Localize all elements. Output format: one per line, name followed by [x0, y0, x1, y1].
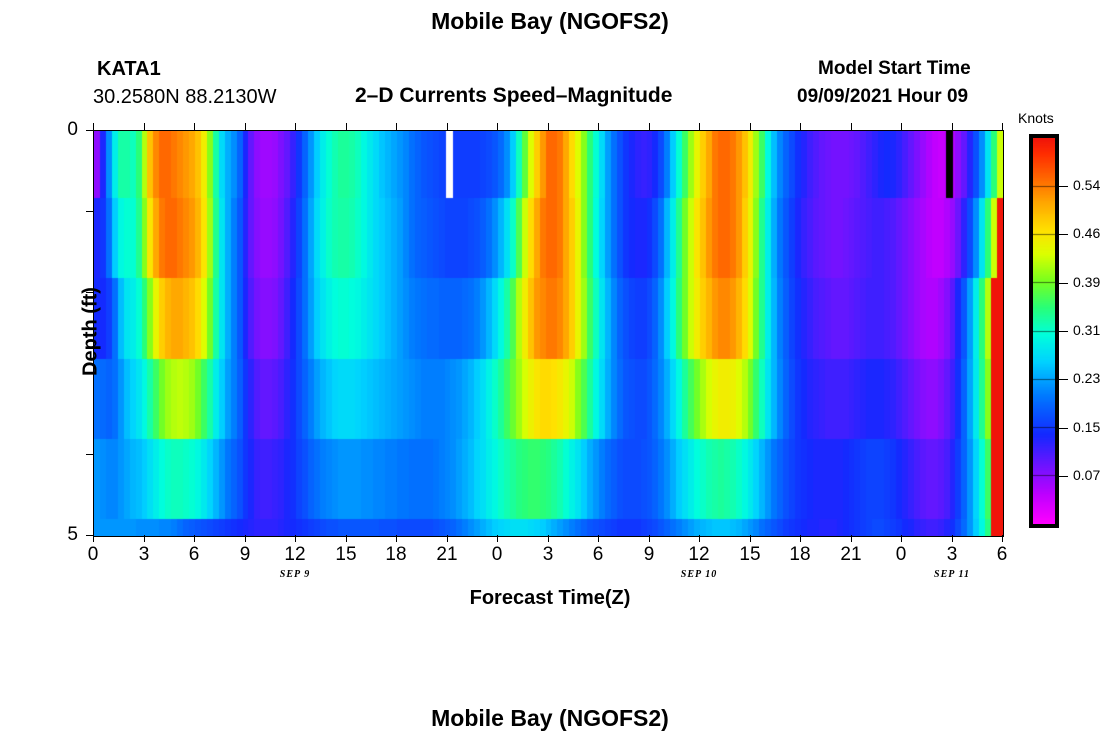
colorbar-tick-label: 0.312: [1073, 322, 1100, 338]
x-axis-tick: [1002, 535, 1003, 542]
colorbar-tick-label: 0.391: [1073, 274, 1100, 290]
station-id-label: KATA1: [97, 58, 161, 81]
x-axis-tick-top: [245, 123, 246, 130]
x-axis-tick-label: 18: [780, 544, 820, 566]
colorbar-title: Knots: [1018, 110, 1054, 126]
x-axis-tick-label: 3: [528, 544, 568, 566]
page-title: Mobile Bay (NGOFS2): [0, 8, 1100, 35]
x-axis-tick-label: 21: [427, 544, 467, 566]
y-axis-tick-label: 0: [38, 119, 78, 141]
x-axis-tick-top: [93, 123, 94, 130]
y-axis-tick: [86, 373, 93, 374]
x-axis-tick-label: 9: [629, 544, 669, 566]
x-axis-tick-label: 18: [376, 544, 416, 566]
colorbar-gradient: [1033, 138, 1055, 524]
y-axis-title: Depth (ft): [80, 232, 103, 432]
x-axis-tick-top: [649, 123, 650, 130]
x-axis-tick-label: 21: [831, 544, 871, 566]
x-axis-tick-label: 3: [932, 544, 972, 566]
x-axis-tick-label: 12: [679, 544, 719, 566]
x-axis-tick-label: 15: [730, 544, 770, 566]
x-axis-tick-top: [295, 123, 296, 130]
footer-title: Mobile Bay (NGOFS2): [0, 705, 1100, 732]
colorbar-tick-label: 0.078: [1073, 467, 1100, 483]
x-axis-tick-top: [1002, 123, 1003, 130]
x-axis-tick: [952, 535, 953, 542]
x-axis-tick: [144, 535, 145, 542]
x-axis-tick-top: [497, 123, 498, 130]
x-axis-tick-label: 12: [275, 544, 315, 566]
y-axis-tick-label: 5: [38, 524, 78, 546]
colorbar-tick: [1059, 379, 1068, 380]
x-axis-tick: [497, 535, 498, 542]
colorbar-tick: [1059, 186, 1068, 187]
x-axis-tick: [295, 535, 296, 542]
x-axis-tick: [447, 535, 448, 542]
y-axis-tick: [86, 535, 93, 536]
x-axis-tick: [245, 535, 246, 542]
x-axis-tick: [800, 535, 801, 542]
x-axis-tick-top: [194, 123, 195, 130]
colorbar-tick: [1059, 428, 1068, 429]
x-axis-day-label: SEP 10: [659, 569, 739, 580]
x-axis-tick: [699, 535, 700, 542]
station-coordinates-label: 30.2580N 88.2130W: [93, 86, 276, 109]
x-axis-tick-top: [800, 123, 801, 130]
x-axis-tick-label: 0: [881, 544, 921, 566]
chart-subtitle: 2–D Currents Speed–Magnitude: [355, 84, 672, 108]
heatmap-image: [94, 131, 1003, 536]
x-axis-tick-label: 6: [982, 544, 1022, 566]
x-axis-tick: [598, 535, 599, 542]
x-axis-day-label: SEP 11: [912, 569, 992, 580]
colorbar-tick: [1059, 476, 1068, 477]
heatmap-plot-area: [93, 130, 1004, 537]
x-axis-tick-label: 9: [225, 544, 265, 566]
x-axis-tick: [194, 535, 195, 542]
x-axis-tick: [346, 535, 347, 542]
y-axis-tick: [86, 454, 93, 455]
x-axis-tick: [901, 535, 902, 542]
x-axis-tick-label: 3: [124, 544, 164, 566]
x-axis-tick: [396, 535, 397, 542]
x-axis-tick-top: [901, 123, 902, 130]
x-axis-tick: [649, 535, 650, 542]
y-axis-tick: [86, 130, 93, 131]
x-axis-tick-label: 6: [578, 544, 618, 566]
y-axis-tick: [86, 211, 93, 212]
x-axis-tick-top: [750, 123, 751, 130]
x-axis-tick-label: 6: [174, 544, 214, 566]
x-axis-tick-label: 0: [477, 544, 517, 566]
x-axis-tick: [93, 535, 94, 542]
x-axis-tick-top: [851, 123, 852, 130]
x-axis-tick-top: [447, 123, 448, 130]
x-axis-tick-top: [952, 123, 953, 130]
model-start-time-value: 09/09/2021 Hour 09: [797, 86, 968, 108]
x-axis-tick-top: [598, 123, 599, 130]
colorbar-tick-label: 0.156: [1073, 419, 1100, 435]
x-axis-tick-top: [548, 123, 549, 130]
colorbar-tick-label: 0.547: [1073, 177, 1100, 193]
x-axis-tick-top: [699, 123, 700, 130]
x-axis-tick-top: [346, 123, 347, 130]
colorbar-tick-label: 0.469: [1073, 225, 1100, 241]
x-axis-tick-label: 0: [73, 544, 113, 566]
x-axis-tick: [851, 535, 852, 542]
model-start-time-label: Model Start Time: [818, 58, 971, 80]
x-axis-tick: [750, 535, 751, 542]
colorbar-tick-label: 0.234: [1073, 370, 1100, 386]
x-axis-day-label: SEP 9: [255, 569, 335, 580]
x-axis-tick: [548, 535, 549, 542]
figure-canvas: Mobile Bay (NGOFS2) KATA1 30.2580N 88.21…: [0, 0, 1100, 750]
colorbar-tick: [1059, 283, 1068, 284]
x-axis-tick-label: 15: [326, 544, 366, 566]
colorbar-tick: [1059, 331, 1068, 332]
x-axis-tick-top: [144, 123, 145, 130]
x-axis-tick-top: [396, 123, 397, 130]
colorbar: [1029, 134, 1059, 528]
y-axis-tick: [86, 292, 93, 293]
x-axis-title: Forecast Time(Z): [0, 587, 1100, 610]
colorbar-tick: [1059, 234, 1068, 235]
